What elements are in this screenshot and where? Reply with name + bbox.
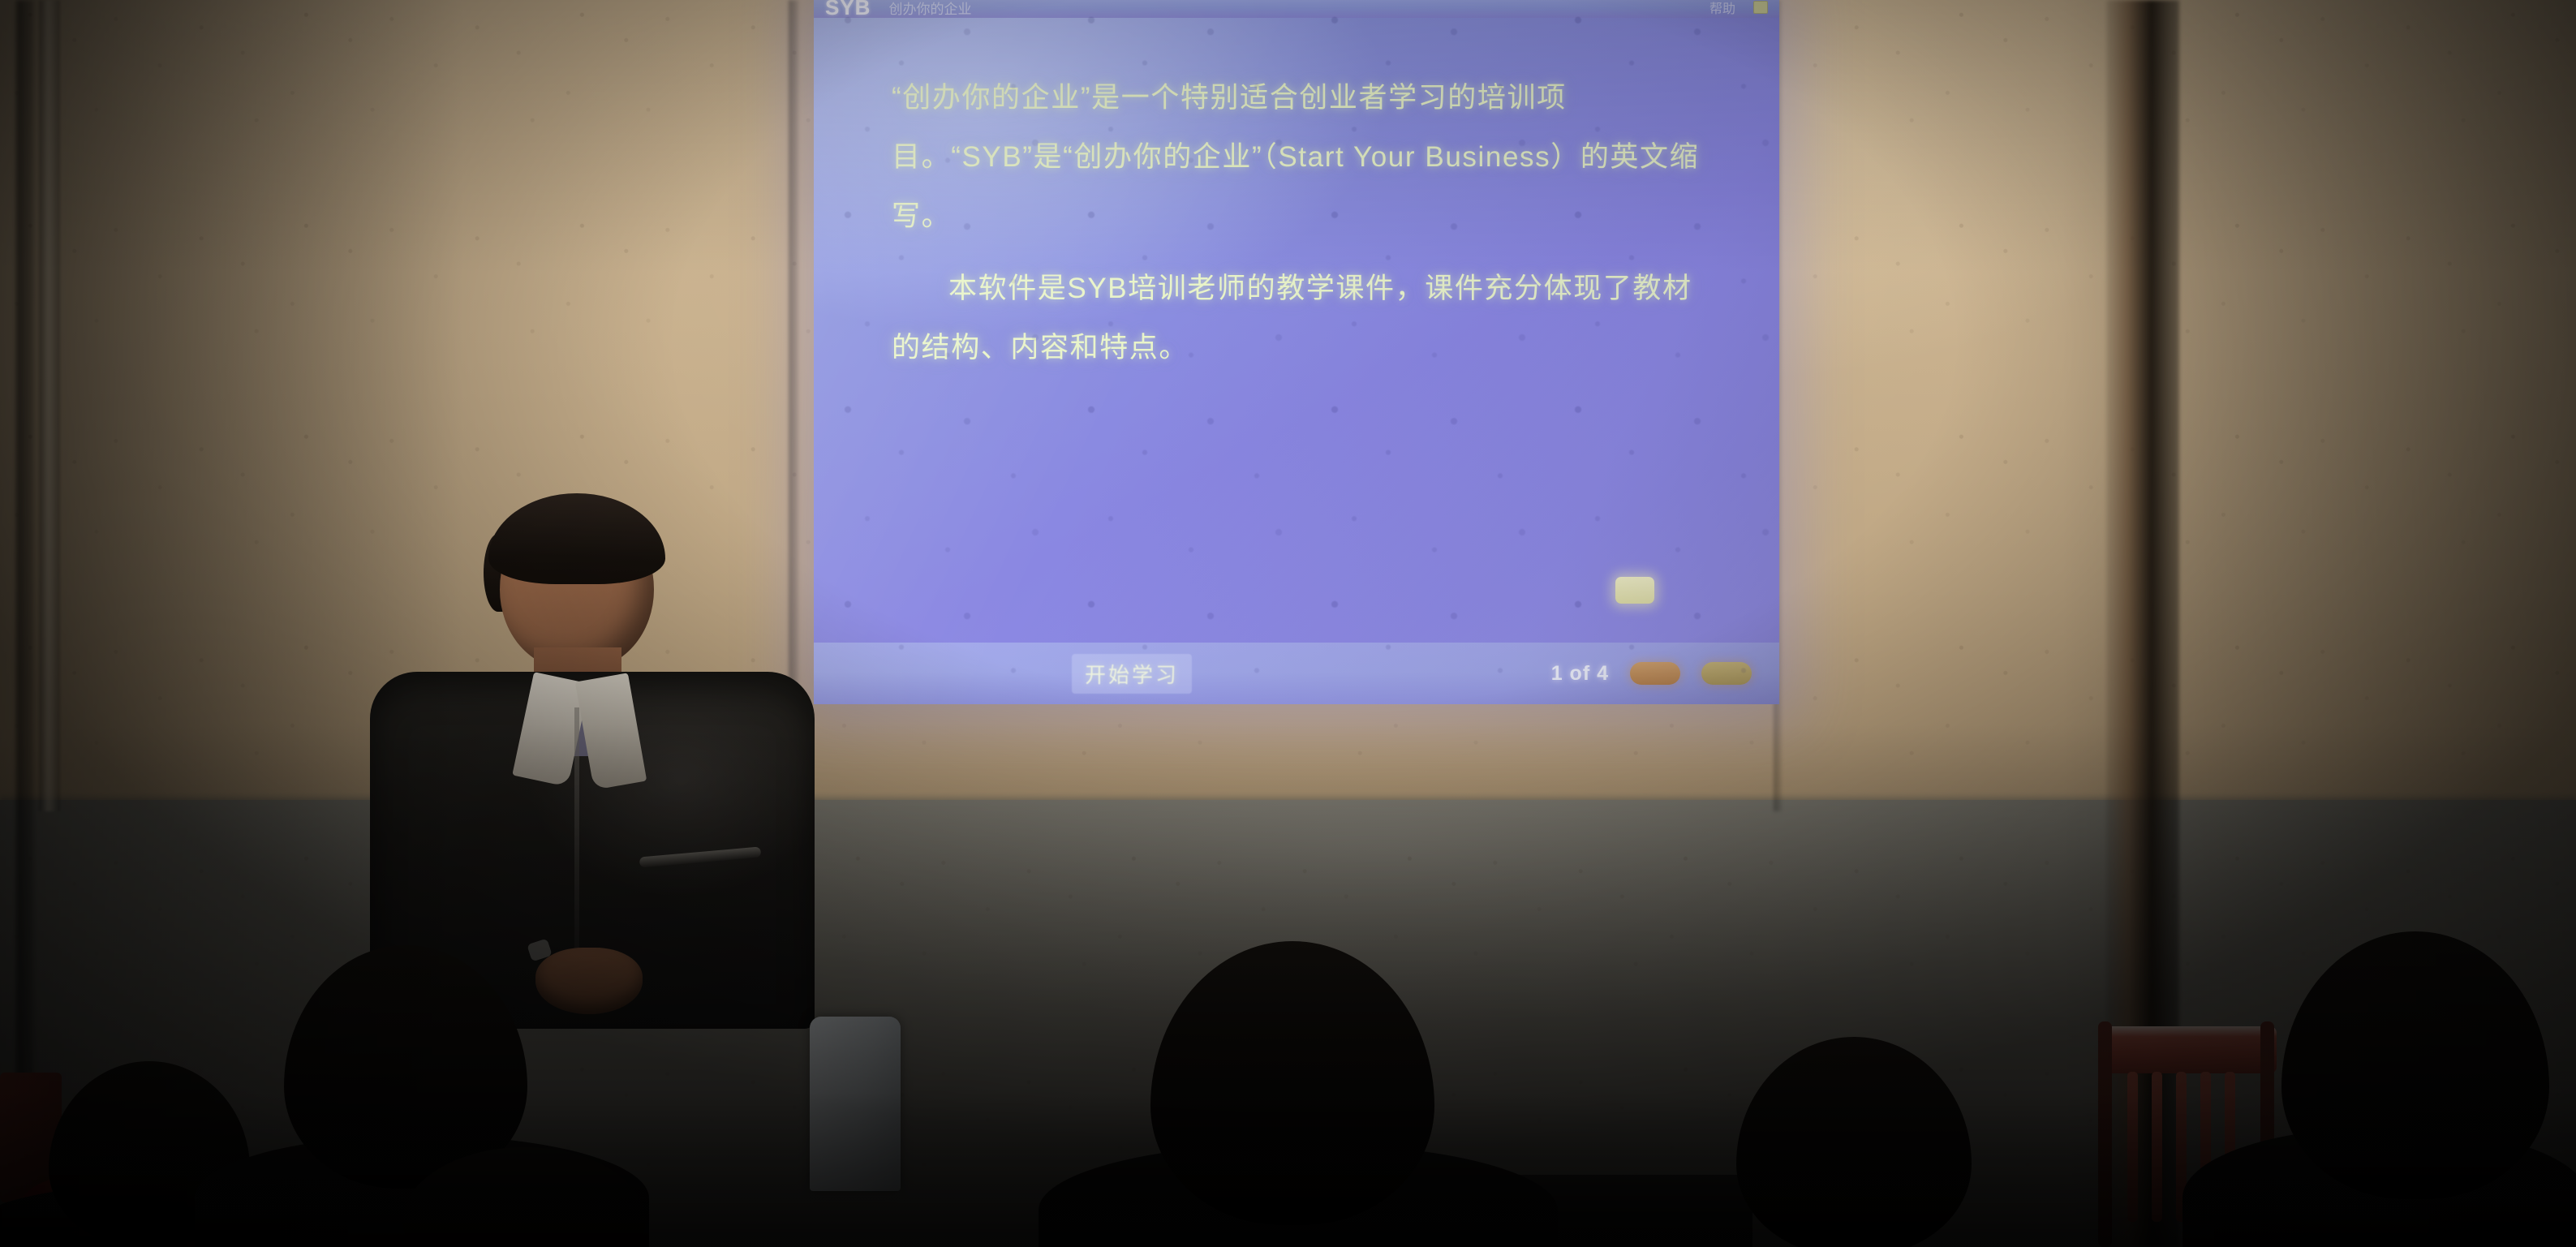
chair-slat <box>2152 1072 2162 1222</box>
slide-footer-bar: 开始学习 1 of 4 <box>814 643 1779 704</box>
slide-content: “创办你的企业”是一个特别适合创业者学习的培训项目。“SYB”是“创办你的企业”… <box>814 18 1779 643</box>
slide-paragraph-2: 本软件是SYB培训老师的教学课件，课件充分体现了教材的结构、内容和特点。 <box>892 259 1701 377</box>
app-title: 创办你的企业 <box>888 0 971 18</box>
slide-paragraph-1: “创办你的企业”是一个特别适合创业者学习的培训项目。“SYB”是“创办你的企业”… <box>892 68 1701 246</box>
slide-helper-button[interactable] <box>1615 577 1654 604</box>
slide-paragraph-2-text: 本软件是SYB培训老师的教学课件，课件充分体现了教材的结构、内容和特点。 <box>892 273 1692 363</box>
start-study-button[interactable]: 开始学习 <box>1072 654 1192 694</box>
presenter <box>341 503 836 1022</box>
wall-seam-far-left <box>16 0 34 1247</box>
help-menu-item[interactable]: 帮助 <box>1709 0 1735 17</box>
syb-logo: SYB <box>825 0 871 18</box>
slide-titlebar: SYB 创办你的企业 帮助 <box>814 0 1779 18</box>
presenter-jacket-zipper <box>574 707 579 975</box>
projection-screen: SYB 创办你的企业 帮助 “创办你的企业”是一个特别适合创业者学习的培训项目。… <box>814 0 1779 704</box>
chair-stile-left <box>2098 1021 2112 1247</box>
scene-root: SYB 创办你的企业 帮助 “创办你的企业”是一个特别适合创业者学习的培训项目。… <box>0 0 2576 1247</box>
wall-pillar-left <box>39 0 60 811</box>
prev-page-button[interactable] <box>1630 662 1680 685</box>
next-page-button[interactable] <box>1701 662 1752 685</box>
presenter-hair <box>488 493 665 584</box>
chair-top-rail <box>2101 1026 2277 1073</box>
page-indicator: 1 of 4 <box>1551 662 1609 686</box>
presenter-hands <box>535 948 643 1014</box>
white-chair <box>810 1017 901 1191</box>
close-icon[interactable] <box>1753 1 1768 14</box>
chair-slat <box>2127 1072 2138 1222</box>
